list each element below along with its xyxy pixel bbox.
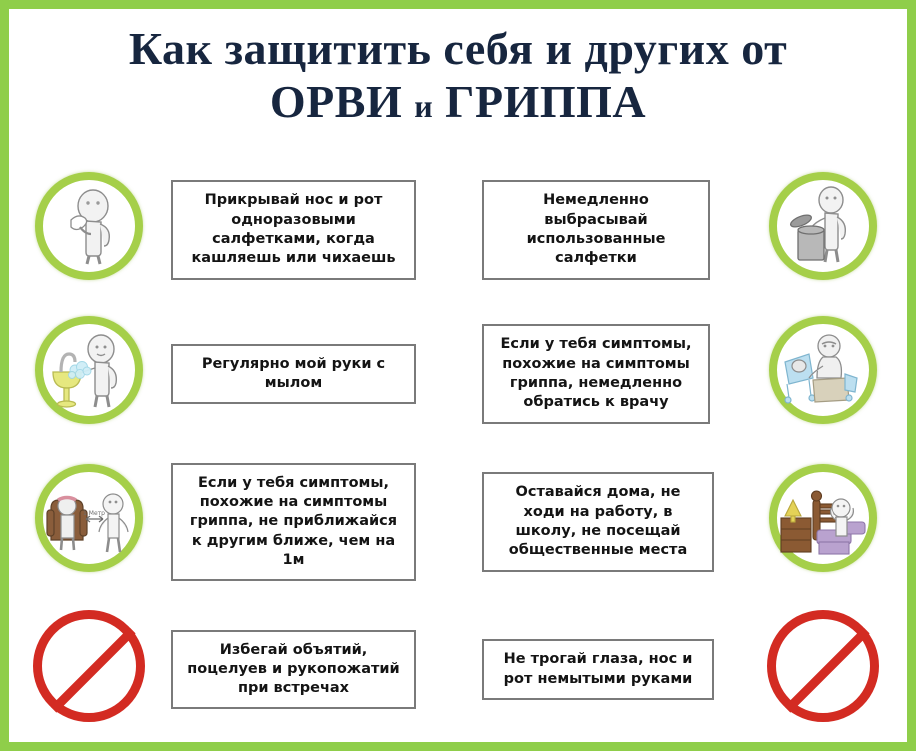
- no-hugging-icon: [31, 608, 155, 732]
- advice-text-box: Оставайся дома, не ходи на работу, в шко…: [482, 472, 714, 571]
- advice-item-discard-tissue: Немедленно выбрасывай использованные сал…: [460, 168, 889, 292]
- figure-art: [779, 474, 867, 562]
- person-throwing-tissue-in-bin-icon: [765, 168, 889, 292]
- advice-text-box: Прикрывай нос и рот одноразовыми салфетк…: [171, 180, 416, 279]
- person-covering-mouth-tissue-icon: [31, 168, 155, 292]
- prohibition-circle: [33, 610, 145, 722]
- advice-item-no-touch-face: Не трогай глаза, нос и рот немытыми рука…: [460, 608, 889, 732]
- advice-row-4: Избегай объятий, поцелуев и рукопожатий …: [9, 597, 907, 742]
- advice-text-box: Если у тебя симптомы, похожие на симптом…: [171, 463, 416, 581]
- figure-art: [779, 326, 867, 414]
- advice-rows: Прикрывай нос и рот одноразовыми салфетк…: [9, 159, 907, 742]
- no-touching-face-icon: [765, 608, 889, 732]
- advice-item-cover-mouth: Прикрывай нос и рот одноразовыми салфетк…: [31, 168, 460, 292]
- advice-text-box: Если у тебя симптомы, похожие на симптом…: [482, 324, 710, 423]
- distance-label: 1 Метр: [83, 510, 105, 517]
- advice-item-keep-distance: 1 Метр Если у тебя симптомы, похожие на …: [31, 460, 460, 584]
- advice-row-2: Регулярно мой руки с мылом Если у тебя с…: [9, 301, 907, 447]
- doctor-examining-patient-bed-icon: [765, 312, 889, 436]
- figure-art: [45, 326, 133, 414]
- keep-distance-one-meter-icon: 1 Метр: [31, 460, 155, 584]
- page-title: Как защитить себя и других от ОРВИ и ГРИ…: [9, 25, 907, 127]
- advice-text-box: Не трогай глаза, нос и рот немытыми рука…: [482, 639, 714, 700]
- figure-art: 1 Метр: [45, 474, 133, 562]
- title-grippa: ГРИППА: [445, 76, 646, 127]
- advice-row-3: 1 Метр Если у тебя симптомы, похожие на …: [9, 447, 907, 597]
- figure-art: [779, 182, 867, 270]
- advice-item-see-doctor: Если у тебя симптомы, похожие на симптом…: [460, 312, 889, 436]
- advice-item-stay-home: Оставайся дома, не ходи на работу, в шко…: [460, 460, 889, 584]
- advice-text-box: Немедленно выбрасывай использованные сал…: [482, 180, 710, 279]
- advice-text-box: Регулярно мой руки с мылом: [171, 344, 416, 405]
- person-washing-hands-sink-icon: [31, 312, 155, 436]
- figure-art: [45, 182, 133, 270]
- person-staying-home-bedroom-icon: [765, 460, 889, 584]
- advice-item-no-hugging: Избегай объятий, поцелуев и рукопожатий …: [31, 608, 460, 732]
- infographic-poster: Как защитить себя и других от ОРВИ и ГРИ…: [0, 0, 916, 751]
- title-line-1: Как защитить себя и других от: [9, 25, 907, 74]
- title-orvi: ОРВИ: [270, 76, 402, 127]
- advice-text-box: Избегай объятий, поцелуев и рукопожатий …: [171, 630, 416, 710]
- advice-item-wash-hands: Регулярно мой руки с мылом: [31, 312, 460, 436]
- advice-row-1: Прикрывай нос и рот одноразовыми салфетк…: [9, 159, 907, 301]
- title-conjunction: и: [414, 88, 433, 124]
- title-line-2: ОРВИ и ГРИППА: [9, 78, 907, 127]
- prohibition-circle: [767, 610, 879, 722]
